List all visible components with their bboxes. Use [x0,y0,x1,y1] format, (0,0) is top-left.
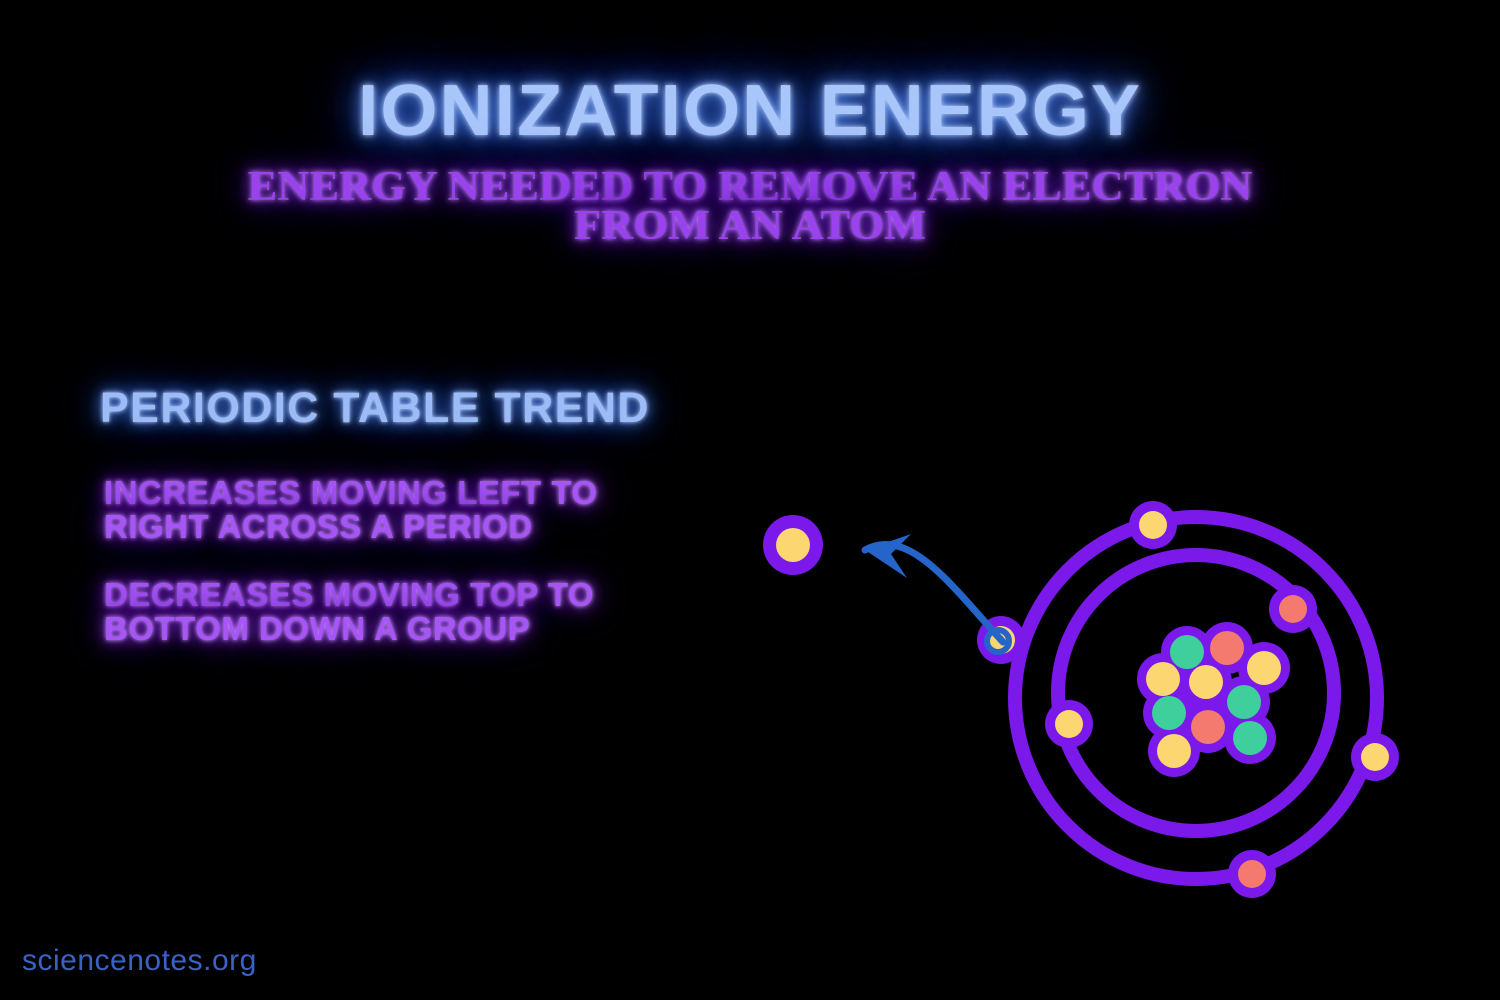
nucleon [1157,734,1191,768]
page-title: IONIZATION ENERGY [0,70,1500,152]
nucleon [1210,631,1244,665]
electron-outer-right [1351,733,1399,781]
electron-core [1139,511,1167,539]
bohr-atom-diagram [740,470,1460,940]
subtitle-line-2: FROM AN ATOM [0,207,1500,246]
page-subtitle: ENERGY NEEDED TO REMOVE AN ELECTRON FROM… [0,168,1500,245]
nucleon [1191,710,1225,744]
free-electron [763,515,823,575]
ionization-arrow-head [865,534,911,578]
footer-source-label: sciencenotes.org [22,944,257,978]
nucleus [1137,622,1290,777]
trend-1-line-1: DECREASES MOVING TOP TO [104,578,594,612]
trend-0-line-1: INCREASES MOVING LEFT TO [104,476,598,510]
nucleon [1146,662,1180,696]
nucleon [1247,651,1281,685]
electron-inner-right [1269,585,1317,633]
section-heading-periodic-table-trend: PERIODIC TABLE TREND [100,384,650,433]
electron-inner-left [1045,700,1093,748]
nucleon [1189,665,1223,699]
electron-core [1361,743,1389,771]
electron-outer-top [1129,501,1177,549]
nucleon [1233,721,1267,755]
electron-core [1238,860,1266,888]
ionization-arrow [865,534,1009,652]
electron-core [1055,710,1083,738]
electron-outer-bottom [1228,850,1276,898]
trend-item-increases: INCREASES MOVING LEFT TO RIGHT ACROSS A … [104,476,598,544]
nucleon [1170,635,1204,669]
nucleon [1152,696,1186,730]
trend-1-line-2: BOTTOM DOWN A GROUP [104,612,594,646]
electron-core [1279,595,1307,623]
infographic-canvas: IONIZATION ENERGY ENERGY NEEDED TO REMOV… [0,0,1500,1000]
trend-0-line-2: RIGHT ACROSS A PERIOD [104,510,598,544]
nucleon [1227,685,1261,719]
trend-item-decreases: DECREASES MOVING TOP TO BOTTOM DOWN A GR… [104,578,594,646]
free-electron-core [776,528,810,562]
